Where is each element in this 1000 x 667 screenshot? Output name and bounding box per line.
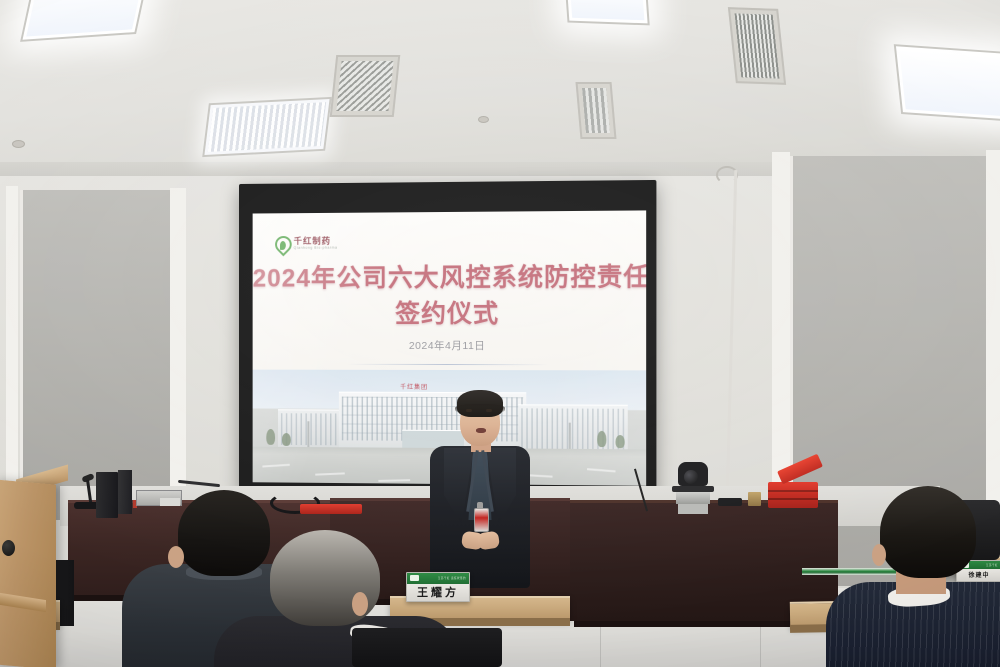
camera-lens-icon [684,470,698,484]
wall-trim [170,188,186,520]
tree [282,433,291,446]
ceiling-troffer-light [894,44,1000,122]
speaker-eye-left [466,409,472,412]
vent-fins [336,61,393,111]
street-lamp [569,423,571,449]
vent-fins [735,13,780,78]
audience-ear [872,544,886,566]
plaza-marking [262,464,289,468]
plaza-marking [587,468,616,472]
ceiling-troffer-light [564,0,649,25]
ceiling-air-vent [330,55,401,117]
speaker-eye-right [486,409,492,412]
slide-title-line-2: 签约仪式 [253,293,647,330]
ceiling-air-vent [728,7,786,85]
desk-microphone [718,498,742,506]
light-louver [570,0,645,20]
ceiling-troffer-light [202,97,332,157]
street-lamp [307,421,308,447]
light-louver [26,0,144,37]
smoke-detector-icon [12,140,25,148]
plaza-marking [315,472,345,475]
camera-tripod-base [678,504,708,514]
camera-tripod-head [676,492,710,504]
audience-ear [352,592,368,616]
speaker-hair [457,390,503,417]
audience-hair [880,486,976,578]
wall-trim [6,186,18,526]
logo-english-name: Qianhong Bio-pharma [294,247,338,251]
vent-fins [582,88,610,133]
audience-person-right [840,486,1000,667]
tree [266,429,275,445]
slide-divider [347,364,549,365]
logo-text: 千红制药 Qianhong Bio-pharma [294,237,338,251]
podium-speaker-icon [2,540,15,556]
ceiling-air-vent [576,82,617,139]
slide-title-line-1: 2024年公司六大风控系统防控责任书 [253,257,647,295]
id-badge [474,508,489,532]
nameplate-org-text: 江苏千红 责任状签约 [438,576,466,580]
slide-date: 2024年4月11日 [253,338,647,353]
light-louver [208,102,326,152]
tree [616,435,625,448]
tree [597,431,606,447]
conference-room-photo: 千红制药 Qianhong Bio-pharma 2024年公司六大风控系统防控… [0,0,1000,667]
logo-chinese-name: 千红制药 [294,237,338,246]
desktop-computer-tower [96,472,118,518]
paper-cup [748,492,761,506]
chair-back [352,628,502,667]
audience-ear [168,546,184,568]
speaker-person [424,388,536,588]
leaf-drop-icon [274,235,290,253]
speaker-mouth [476,428,486,433]
smoke-detector-icon [478,116,489,123]
red-certificate-folders [768,482,818,508]
company-logo: 千红制药 Qianhong Bio-pharma [274,235,337,253]
light-louver [899,49,1000,116]
wooden-podium [0,479,56,667]
plaza-marking [378,479,410,482]
